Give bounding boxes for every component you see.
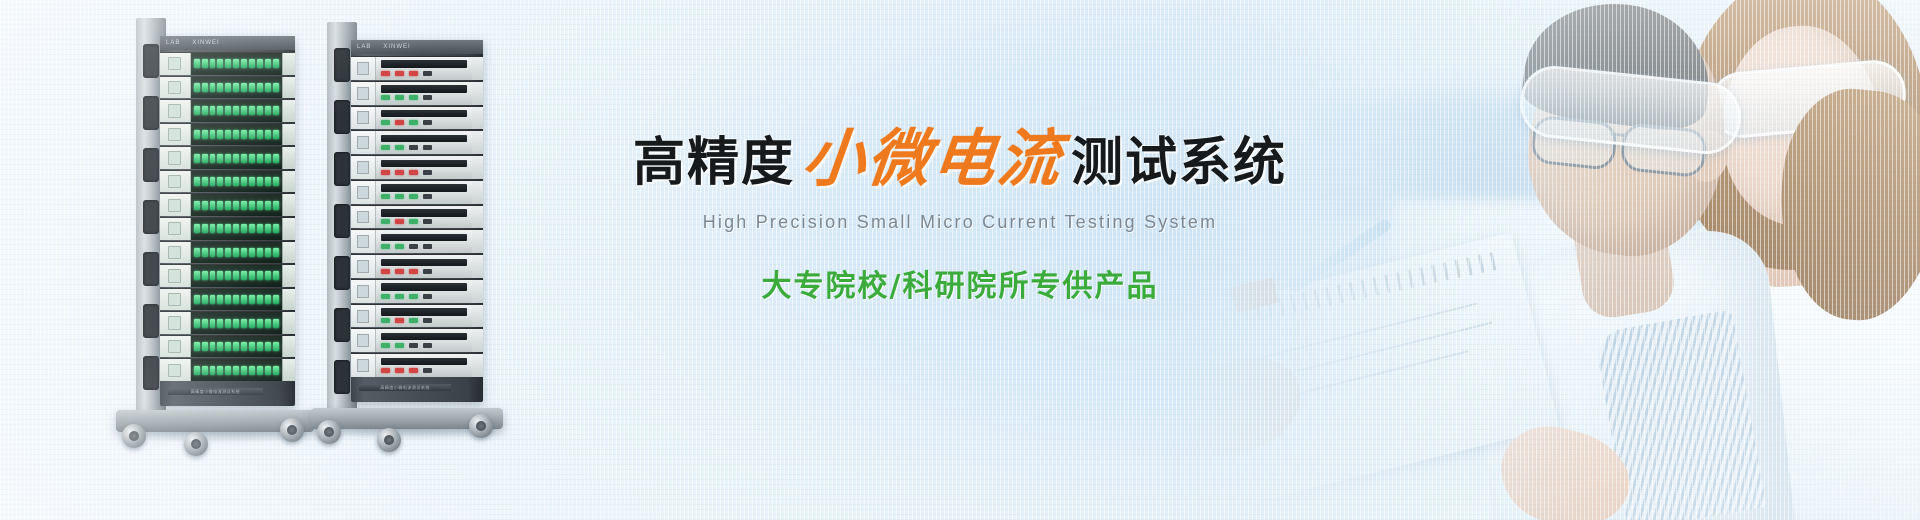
unit-display-panel [160, 77, 191, 99]
unit-side-panel [282, 194, 295, 216]
channel-led [249, 248, 255, 257]
rack-brand: LAB [166, 40, 180, 46]
instrument-unit [351, 279, 483, 303]
channel-led [249, 177, 255, 186]
rack-caster [317, 420, 341, 444]
unit-button-row [381, 194, 468, 200]
unit-side-panel [282, 312, 295, 334]
channel-led [249, 130, 255, 139]
unit-button-row [381, 243, 468, 249]
channel-led [273, 83, 279, 92]
unit-indicator [381, 170, 390, 175]
channel-led [257, 59, 263, 68]
channel-led [225, 59, 231, 68]
unit-button-row [381, 219, 468, 225]
unit-display-panel [160, 171, 191, 193]
unit-display-panel [160, 147, 191, 169]
channel-led [217, 177, 223, 186]
channel-led [233, 295, 239, 304]
unit-button-row [381, 95, 468, 101]
unit-lcd [168, 104, 181, 117]
unit-lcd [357, 260, 369, 273]
rack-post-slot [143, 200, 159, 234]
unit-lcd [357, 186, 369, 199]
unit-control-area [376, 329, 473, 352]
unit-indicator [395, 120, 404, 125]
unit-indicator [409, 194, 418, 199]
unit-indicator [409, 318, 418, 323]
unit-channel-strip [191, 242, 282, 264]
instrument-unit [160, 99, 295, 122]
unit-display-panel [160, 289, 191, 311]
unit-control-area [376, 107, 473, 130]
channel-led [194, 366, 200, 375]
channel-led [249, 83, 255, 92]
rack-post-slot [143, 304, 159, 338]
channel-led [233, 342, 239, 351]
channel-led [273, 366, 279, 375]
channel-led [194, 106, 200, 115]
unit-control-area [376, 131, 473, 154]
rack-caster [280, 418, 304, 442]
channel-led [273, 106, 279, 115]
channel-led [241, 59, 247, 68]
channel-led [202, 342, 208, 351]
instrument-unit [351, 304, 483, 328]
channel-led [202, 295, 208, 304]
channel-led [217, 130, 223, 139]
unit-channel-strip [191, 100, 282, 122]
channel-led [194, 295, 200, 304]
channel-led [202, 224, 208, 233]
unit-indicator [409, 343, 418, 348]
unit-button-row [381, 119, 468, 125]
unit-side-panel [282, 336, 295, 358]
unit-channel-strip [191, 124, 282, 146]
channel-led [265, 106, 271, 115]
unit-indicator [409, 120, 418, 125]
channel-led [202, 83, 208, 92]
channel-led [273, 271, 279, 280]
channel-led [257, 130, 263, 139]
unit-indicator [395, 95, 404, 100]
unit-lcd [168, 199, 181, 212]
channel-led [233, 106, 239, 115]
unit-side-panel [282, 242, 295, 264]
unit-dark-slot [381, 234, 468, 242]
unit-indicator [409, 71, 418, 76]
unit-indicator [381, 294, 390, 299]
title-part-testing-system: 测试系统 [1071, 137, 1287, 189]
channel-led [241, 224, 247, 233]
unit-lcd [357, 359, 369, 372]
unit-channel-strip [191, 53, 282, 75]
unit-display-panel [160, 336, 191, 358]
channel-led [257, 201, 263, 210]
channel-led [249, 201, 255, 210]
channel-led [241, 248, 247, 257]
unit-lcd [357, 87, 369, 100]
unit-indicator [423, 244, 432, 249]
unit-control-area [376, 206, 473, 229]
unit-dark-slot [381, 259, 468, 267]
channel-led [249, 295, 255, 304]
unit-dark-slot [381, 85, 468, 93]
unit-dark-slot [381, 160, 468, 168]
instrument-unit [160, 170, 295, 193]
unit-indicator [423, 145, 432, 150]
rack-model: XINWEI [192, 40, 219, 46]
unit-side-panel [282, 147, 295, 169]
instrument-unit [160, 358, 295, 381]
unit-side-panel [472, 131, 483, 154]
channel-led [273, 319, 279, 328]
unit-side-panel [472, 255, 483, 278]
channel-led [257, 342, 263, 351]
channel-led [202, 106, 208, 115]
unit-lcd [168, 340, 181, 353]
rack-name-plate: 高精度小微电流测试系统 [168, 388, 263, 395]
unit-dark-slot [381, 283, 468, 291]
unit-indicator [423, 269, 432, 274]
channel-led [241, 177, 247, 186]
channel-led [217, 83, 223, 92]
unit-indicator [423, 294, 432, 299]
unit-indicator [395, 294, 404, 299]
rack-brand-label: LAB XINWEI [160, 38, 220, 47]
instrument-unit [160, 335, 295, 358]
unit-lcd [357, 285, 369, 298]
unit-indicator [395, 343, 404, 348]
unit-display-panel [351, 131, 376, 154]
unit-button-row [381, 367, 468, 373]
unit-lcd [357, 310, 369, 323]
channel-led [217, 106, 223, 115]
unit-side-panel [472, 206, 483, 229]
channel-led [233, 83, 239, 92]
channel-led [217, 201, 223, 210]
rack-post-slot [143, 252, 159, 286]
channel-led [194, 201, 200, 210]
instrument-unit [351, 106, 483, 130]
rack-post-slot [143, 44, 159, 78]
unit-dark-slot [381, 209, 468, 217]
channel-led [265, 366, 271, 375]
channel-led [273, 224, 279, 233]
rack-caster [377, 428, 401, 452]
channel-led [265, 154, 271, 163]
channel-led [233, 224, 239, 233]
unit-indicator [381, 120, 390, 125]
unit-indicator [423, 95, 432, 100]
rack-cabinet: LAB XINWEI 高精度小微电流测试系统 [351, 40, 483, 402]
channel-led [233, 271, 239, 280]
channel-led [265, 130, 271, 139]
unit-display-panel [160, 265, 191, 287]
channel-led [265, 271, 271, 280]
unit-button-row [381, 169, 468, 175]
unit-indicator [409, 219, 418, 224]
channel-led [241, 154, 247, 163]
channel-led [194, 342, 200, 351]
instrument-unit [351, 328, 483, 352]
instrument-unit [160, 241, 295, 264]
unit-side-panel [472, 156, 483, 179]
instrument-unit [351, 254, 483, 278]
channel-led [194, 271, 200, 280]
unit-side-panel [282, 289, 295, 311]
unit-indicator [423, 120, 432, 125]
rack-cabinet: LAB XINWEI 高精度小微电流测试系统 [160, 36, 295, 406]
channel-led [265, 177, 271, 186]
rack-post-slot [143, 96, 159, 130]
rack-caster [184, 432, 208, 456]
unit-indicator [423, 170, 432, 175]
unit-display-panel [351, 230, 376, 253]
unit-lcd [357, 334, 369, 347]
unit-display-panel [160, 242, 191, 264]
channel-led [257, 154, 263, 163]
channel-led [225, 295, 231, 304]
channel-led [241, 106, 247, 115]
channel-led [273, 130, 279, 139]
unit-display-panel [160, 53, 191, 75]
rack-post-slot [334, 152, 350, 186]
unit-display-panel [351, 57, 376, 80]
title-part-small-micro-current: 小微电流 [800, 128, 1067, 190]
unit-lcd [168, 364, 181, 377]
channel-led [257, 177, 263, 186]
channel-led [210, 59, 216, 68]
unit-lcd [168, 246, 181, 259]
channel-led [210, 295, 216, 304]
unit-side-panel [282, 77, 295, 99]
channel-led [225, 154, 231, 163]
rack-caster [122, 424, 146, 448]
channel-led [194, 177, 200, 186]
unit-lcd [357, 161, 369, 174]
unit-indicator [409, 170, 418, 175]
channel-led [233, 366, 239, 375]
channel-led [249, 366, 255, 375]
unit-side-panel [472, 354, 483, 377]
unit-channel-strip [191, 194, 282, 216]
unit-display-panel [160, 194, 191, 216]
channel-led [202, 177, 208, 186]
unit-channel-strip [191, 289, 282, 311]
instrument-unit [351, 130, 483, 154]
channel-led [194, 154, 200, 163]
channel-led [210, 366, 216, 375]
channel-led [217, 224, 223, 233]
unit-indicator [381, 145, 390, 150]
rack-left: LAB XINWEI 高精度小微电流测试系统 [120, 18, 300, 438]
unit-control-area [376, 305, 473, 328]
unit-dark-slot [381, 110, 468, 118]
unit-side-panel [472, 329, 483, 352]
unit-indicator [381, 343, 390, 348]
channel-led [233, 177, 239, 186]
unit-channel-strip [191, 336, 282, 358]
instrument-unit [160, 52, 295, 75]
channel-led [241, 366, 247, 375]
channel-led [257, 83, 263, 92]
unit-indicator [395, 244, 404, 249]
unit-lcd [357, 111, 369, 124]
channel-led [202, 154, 208, 163]
unit-display-panel [160, 124, 191, 146]
unit-lcd [357, 62, 369, 75]
unit-display-panel [351, 354, 376, 377]
subtitle-chinese: 大专院校/科研院所专供产品 [640, 261, 1280, 305]
unit-indicator [423, 343, 432, 348]
channel-led [265, 201, 271, 210]
instrument-unit [160, 217, 295, 240]
unit-indicator [423, 368, 432, 373]
rack-post-slot [334, 308, 350, 342]
unit-button-row [381, 70, 468, 76]
unit-lcd [168, 269, 181, 282]
channel-led [233, 59, 239, 68]
unit-lcd [357, 136, 369, 149]
unit-channel-strip [191, 218, 282, 240]
channel-led [265, 83, 271, 92]
unit-button-row [381, 318, 468, 324]
channel-led [241, 295, 247, 304]
channel-led [225, 177, 231, 186]
unit-indicator [381, 368, 390, 373]
unit-side-panel [282, 171, 295, 193]
instrument-unit [160, 288, 295, 311]
unit-display-panel [160, 312, 191, 334]
instrument-unit [160, 146, 295, 169]
unit-side-panel [282, 53, 295, 75]
channel-led [202, 319, 208, 328]
unit-dark-slot [381, 308, 468, 316]
rack-post-slot [334, 204, 350, 238]
channel-led [249, 271, 255, 280]
channel-led [265, 319, 271, 328]
channel-led [225, 271, 231, 280]
channel-led [249, 106, 255, 115]
unit-button-row [381, 342, 468, 348]
channel-led [225, 366, 231, 375]
channel-led [257, 295, 263, 304]
unit-display-panel [351, 107, 376, 130]
channel-led [217, 319, 223, 328]
channel-led [225, 83, 231, 92]
channel-led [273, 177, 279, 186]
unit-indicator [409, 244, 418, 249]
unit-display-panel [351, 156, 376, 179]
instrument-unit [160, 264, 295, 287]
unit-lcd [168, 57, 181, 70]
channel-led [225, 224, 231, 233]
channel-led [210, 271, 216, 280]
unit-control-area [376, 181, 473, 204]
unit-indicator [395, 71, 404, 76]
channel-led [194, 319, 200, 328]
channel-led [217, 248, 223, 257]
channel-led [194, 83, 200, 92]
unit-channel-strip [191, 359, 282, 381]
banner-copy: 高精度 小微电流 测试系统 High Precision Small Micro… [640, 128, 1280, 305]
channel-led [265, 248, 271, 257]
channel-led [257, 224, 263, 233]
channel-led [194, 248, 200, 257]
channel-led [265, 295, 271, 304]
unit-lcd [168, 293, 181, 306]
channel-led [210, 319, 216, 328]
main-title: 高精度 小微电流 测试系统 [640, 128, 1280, 190]
instrument-unit [160, 311, 295, 334]
channel-led [225, 130, 231, 139]
channel-led [265, 342, 271, 351]
instrument-unit [351, 353, 483, 377]
unit-control-area [376, 230, 473, 253]
channel-led [217, 295, 223, 304]
channel-led [202, 366, 208, 375]
unit-display-panel [160, 100, 191, 122]
unit-lcd [168, 81, 181, 94]
rack-model: XINWEI [383, 44, 410, 50]
channel-led [273, 342, 279, 351]
channel-led [249, 59, 255, 68]
unit-indicator [409, 294, 418, 299]
instrument-unit [351, 229, 483, 253]
channel-led [210, 154, 216, 163]
rack-caster [469, 414, 493, 438]
channel-led [194, 224, 200, 233]
unit-side-panel [282, 124, 295, 146]
unit-display-panel [351, 206, 376, 229]
unit-control-area [376, 57, 473, 80]
unit-indicator [381, 318, 390, 323]
channel-led [257, 248, 263, 257]
unit-side-panel [472, 280, 483, 303]
rack-right: LAB XINWEI 高精度小微电流测试系统 [315, 22, 490, 437]
unit-indicator [381, 219, 390, 224]
instrument-unit [351, 180, 483, 204]
instrument-unit [351, 81, 483, 105]
unit-side-panel [282, 359, 295, 381]
unit-indicator [381, 194, 390, 199]
unit-indicator [381, 269, 390, 274]
unit-display-panel [160, 218, 191, 240]
unit-lcd [357, 211, 369, 224]
rack-post-slot [334, 100, 350, 134]
unit-indicator [395, 368, 404, 373]
channel-led [249, 342, 255, 351]
unit-button-row [381, 144, 468, 150]
channel-led [241, 130, 247, 139]
channel-led [202, 201, 208, 210]
unit-dark-slot [381, 135, 468, 143]
channel-led [273, 154, 279, 163]
rack-post-slot [334, 256, 350, 290]
channel-led [273, 295, 279, 304]
channel-led [225, 248, 231, 257]
unit-control-area [376, 354, 473, 377]
channel-led [225, 106, 231, 115]
rack-name-plate: 高精度小微电流测试系统 [359, 384, 451, 391]
unit-side-panel [472, 181, 483, 204]
unit-side-panel [472, 107, 483, 130]
unit-button-row [381, 293, 468, 299]
channel-led [194, 59, 200, 68]
rack-post-slot [143, 148, 159, 182]
channel-led [210, 224, 216, 233]
